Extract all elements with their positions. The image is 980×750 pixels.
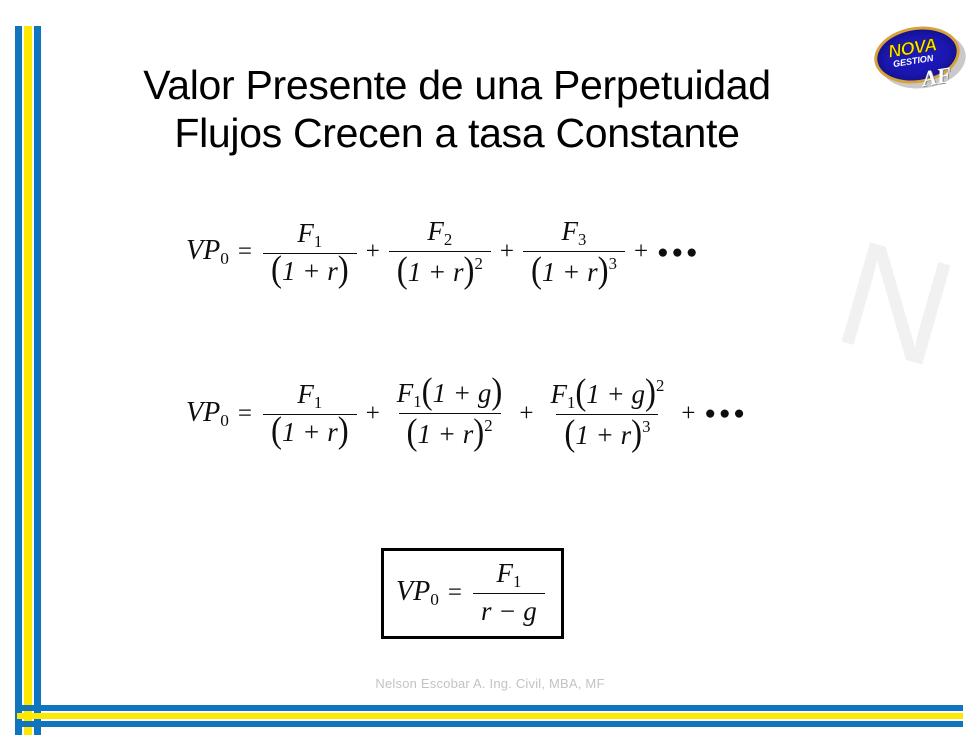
eq1-term-1: F1 (1 + r) (263, 218, 357, 287)
eq2-lhs: VP0 (186, 397, 229, 431)
slide-title: Valor Presente de una Perpetuidad Flujos… (52, 62, 862, 157)
boxed-lhs: VP0 (396, 576, 439, 610)
eq2-term-1-numerator: F1 (289, 379, 330, 414)
slide-canvas: N NOVA GESTION AF Valor Presente de una … (0, 0, 980, 750)
left-stripe-blue-outer (15, 26, 22, 735)
eq1-term-3-numerator: F3 (554, 216, 595, 251)
eq1-term-1-denominator: (1 + r) (263, 253, 357, 287)
eq2-plus-2: + (512, 400, 540, 428)
eq2-term-3-numerator: F1(1 + g)2 (542, 376, 672, 414)
eq1-plus-2: + (493, 238, 521, 266)
slide-footer-author: Nelson Escobar A. Ing. Civil, MBA, MF (0, 676, 980, 691)
title-line-2: Flujos Crecen a tasa Constante (52, 110, 862, 158)
eq1-equals: = (229, 238, 261, 266)
bottom-stripe-yellow (17, 713, 963, 719)
eq2-term-1: F1 (1 + r) (263, 379, 357, 448)
eq1-ellipsis-dots: ●●● (655, 243, 700, 262)
eq1-term-2-numerator: F2 (419, 216, 460, 251)
eq1-term-3-denominator: (1 + r)3 (523, 251, 625, 288)
eq1-term-3: F3 (1 + r)3 (523, 216, 625, 288)
nova-gestion-logo: NOVA GESTION AF (866, 22, 970, 96)
eq2-plus-3: + (674, 400, 702, 428)
eq2-term-3: F1(1 + g)2 (1 + r)3 (542, 376, 672, 451)
eq2-term-3-denominator: (1 + r)3 (556, 414, 658, 451)
eq2-term-1-denominator: (1 + r) (263, 414, 357, 448)
logo-initials: AF (920, 64, 952, 90)
eq1-term-2-denominator: (1 + r)2 (389, 251, 491, 288)
eq2-term-2-numerator: F1(1 + g) (389, 378, 511, 413)
boxed-fraction: F1 r − g (473, 558, 545, 627)
eq2-equals: = (229, 400, 261, 428)
eq2-term-2: F1(1 + g) (1 + r)2 (389, 378, 511, 450)
eq2-ellipsis-dots: ●●● (702, 404, 747, 423)
eq1-term-1-numerator: F1 (289, 218, 330, 253)
left-stripe-blue-inner (34, 26, 41, 735)
bottom-stripe-blue-upper (17, 705, 963, 711)
equation-one: VP0 = F1 (1 + r) + F2 (1 + r)2 + F3 (1 +… (186, 216, 701, 288)
eq1-lhs: VP0 (186, 235, 229, 269)
eq1-plus-1: + (359, 238, 387, 266)
eq1-plus-3: + (627, 238, 655, 266)
eq2-term-2-denominator: (1 + r)2 (399, 413, 501, 450)
nova-watermark: N (823, 216, 968, 390)
boxed-denominator: r − g (473, 593, 545, 627)
equation-two: VP0 = F1 (1 + r) + F1(1 + g) (1 + r)2 + … (186, 376, 748, 451)
boxed-numerator: F1 (488, 558, 529, 593)
eq1-term-2: F2 (1 + r)2 (389, 216, 491, 288)
boxed-equals: = (439, 579, 471, 607)
title-line-1: Valor Presente de una Perpetuidad (143, 62, 771, 108)
eq2-plus-1: + (359, 400, 387, 428)
left-stripe-yellow (24, 26, 32, 735)
bottom-stripe-blue-lower (17, 721, 963, 727)
boxed-result-formula: VP0 = F1 r − g (381, 548, 564, 639)
